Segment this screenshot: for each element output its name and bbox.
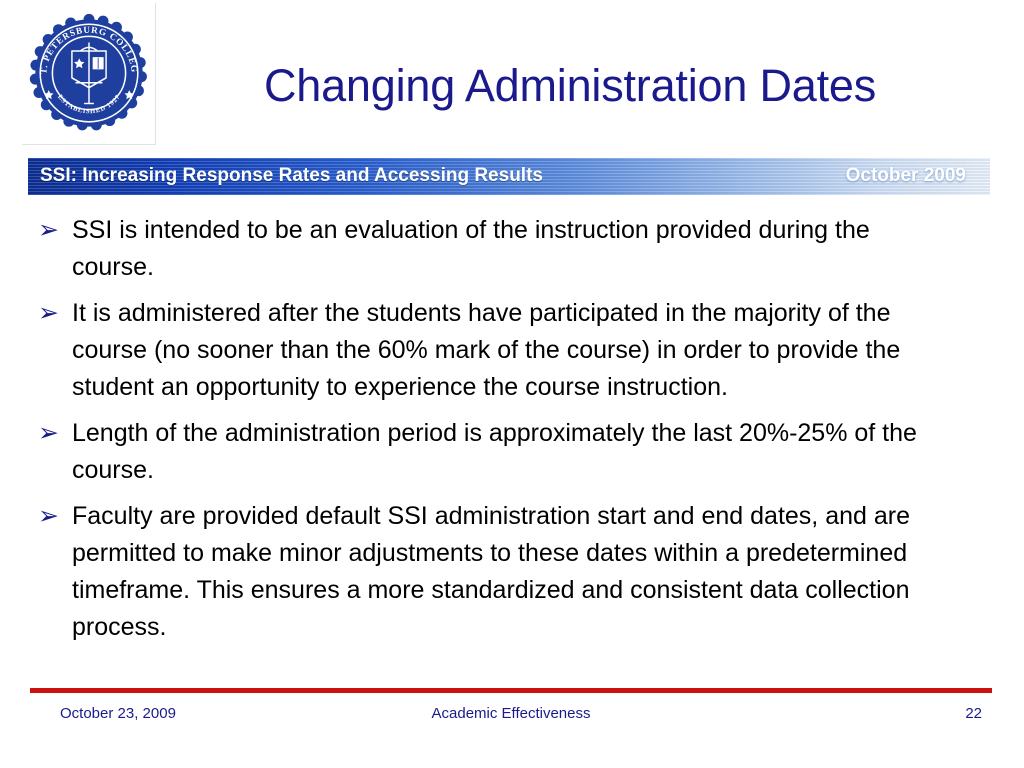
banner-title: SSI: Increasing Response Rates and Acces… [40,165,543,187]
arrow-bullet-icon: ➢ [34,498,72,535]
arrow-bullet-icon: ➢ [34,415,72,452]
section-banner: SSI: Increasing Response Rates and Acces… [28,158,990,195]
list-item: ➢ SSI is intended to be an evaluation of… [34,212,974,286]
arrow-bullet-icon: ➢ [34,295,72,332]
list-item-text: It is administered after the students ha… [72,295,938,406]
list-item: ➢ Faculty are provided default SSI admin… [34,498,974,646]
list-item-text: Length of the administration period is a… [72,415,938,489]
footer: October 23, 2009 Academic Effectiveness … [30,705,992,729]
footer-divider [30,688,992,693]
list-item: ➢ It is administered after the students … [34,295,974,406]
arrow-bullet-icon: ➢ [34,212,72,249]
list-item-text: Faculty are provided default SSI adminis… [72,498,938,646]
st-petersburg-college-seal-icon: ST. PETERSBURG COLLEGE ESTABLISHED 1927 [28,9,150,137]
bullet-list: ➢ SSI is intended to be an evaluation of… [34,212,974,655]
footer-page-number: 22 [965,705,982,722]
college-logo: ST. PETERSBURG COLLEGE ESTABLISHED 1927 [22,3,156,145]
slide-canvas: ST. PETERSBURG COLLEGE ESTABLISHED 1927 [0,0,1024,768]
list-item: ➢ Length of the administration period is… [34,415,974,489]
banner-date: October 2009 [846,165,966,187]
list-item-text: SSI is intended to be an evaluation of t… [72,212,938,286]
page-title: Changing Administration Dates [170,60,970,112]
footer-organization: Academic Effectiveness [30,705,992,722]
